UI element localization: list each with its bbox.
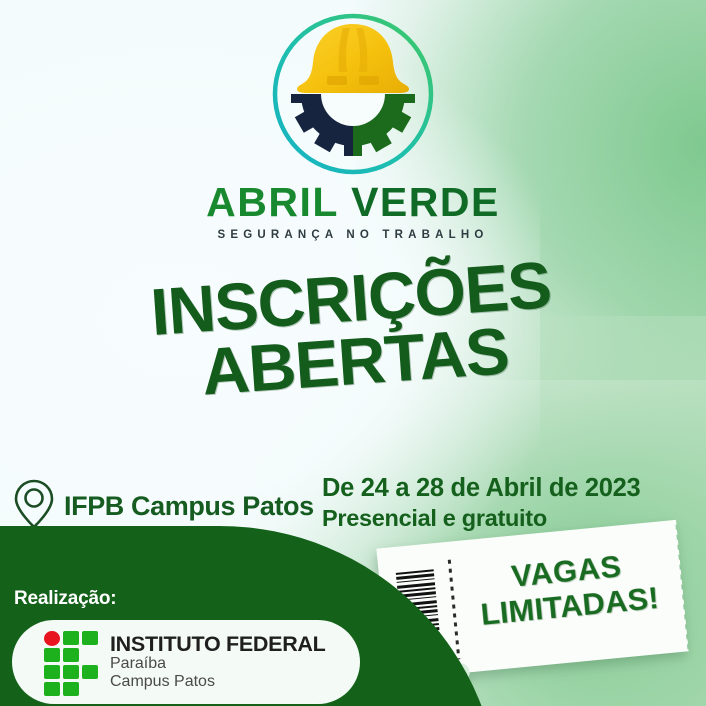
institution-text: INSTITUTO FEDERAL Paraíba Campus Patos [110,633,325,691]
ifpb-cell [82,665,98,679]
logo-svg [267,8,439,180]
hard-hat-icon [297,24,409,93]
ifpb-cell [63,682,79,696]
ifpb-cell [44,665,60,679]
logo-subtitle: SEGURANÇA NO TRABALHO [217,229,488,241]
ifpb-dot-red [44,631,60,646]
ifpb-cell [63,665,79,679]
ifpb-cell [44,648,60,662]
institution-card: INSTITUTO FEDERAL Paraíba Campus Patos [12,620,360,704]
realizacao-label: Realização: [14,588,116,610]
logo-mark [267,8,439,180]
logo-title-abril: ABRIL [206,179,338,225]
ifpb-cell-empty [82,682,98,696]
ifpb-cell [63,631,79,645]
institution-campus: Campus Patos [110,673,325,691]
event-info: De 24 a 28 de Abril de 2023 Presencial e… [322,473,640,532]
institution-state: Paraíba [110,655,325,673]
ifpb-cell [82,631,98,645]
ifpb-cell [44,682,60,696]
abril-verde-logo: ABRIL VERDE SEGURANÇA NO TRABALHO [0,8,706,241]
ifpb-cell-empty [82,648,98,662]
logo-title-verde: VERDE [351,179,500,225]
ifpb-cell [63,648,79,662]
institution-name: INSTITUTO FEDERAL [110,633,325,656]
ifpb-logo-icon [44,631,98,693]
logo-title: ABRIL VERDE [206,182,500,223]
poster-canvas: ABRIL VERDE SEGURANÇA NO TRABALHO INSCRI… [0,0,706,706]
event-dates: De 24 a 28 de Abril de 2023 [322,473,640,504]
location-label: IFPB Campus Patos [64,491,314,522]
